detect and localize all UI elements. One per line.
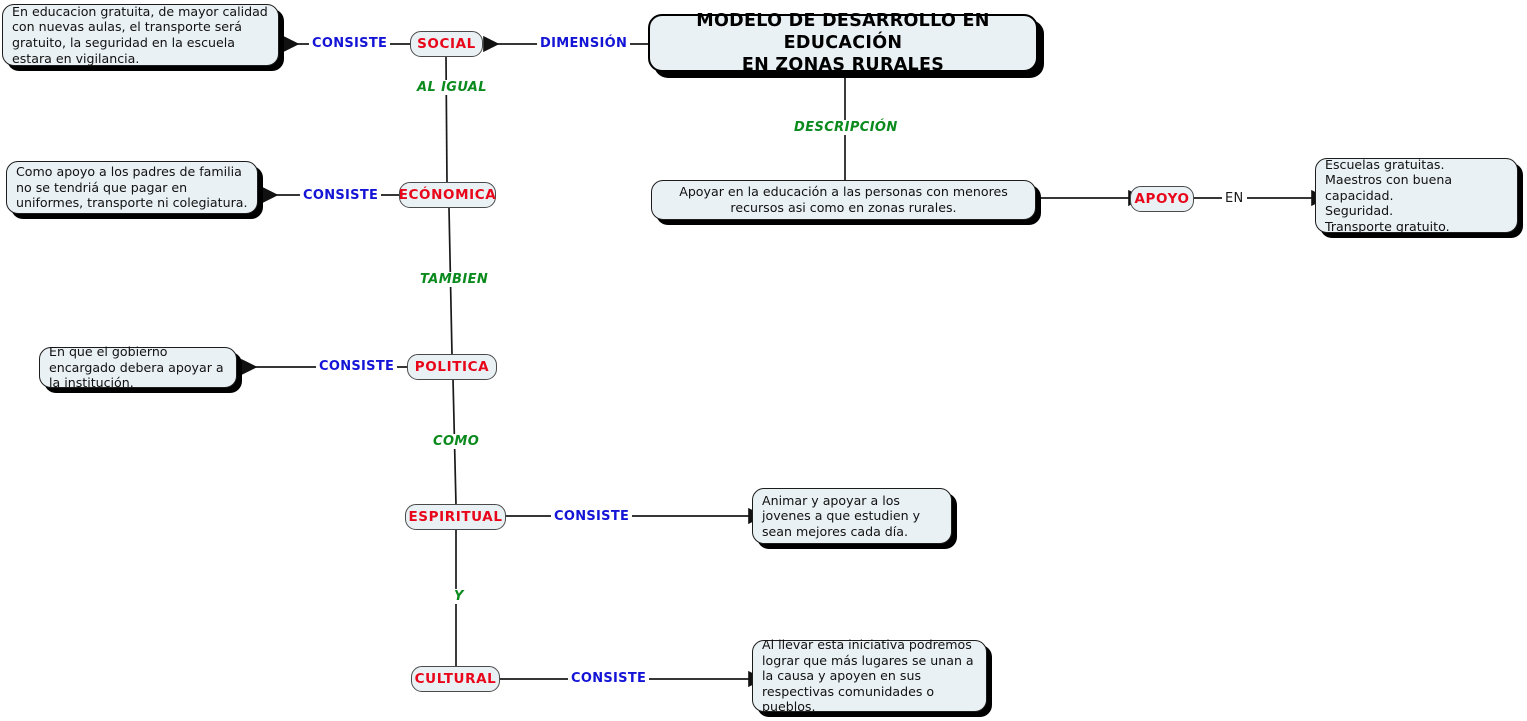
link-label-consiste-politica: CONSISTE [316, 359, 397, 374]
box-apoyo-detail-line-4: Transporte gratuito. [1325, 219, 1508, 235]
node-apoyo[interactable]: APOYO [1130, 186, 1194, 212]
node-espiritual[interactable]: ESPIRITUAL [405, 504, 506, 530]
box-apoyo-detail-line-1: Escuelas gratuitas. [1325, 157, 1508, 173]
link-label-descripcion: DESCRIPCIÓN [791, 120, 901, 135]
node-politica[interactable]: POLITICA [407, 354, 497, 380]
link-label-consiste-espiritual: CONSISTE [551, 509, 632, 524]
concept-map-canvas: MODELO DE DESARROLLO EN EDUCACIÓN EN ZON… [0, 0, 1527, 721]
page-title-line-1: MODELO DE DESARROLLO EN EDUCACIÓN [650, 10, 1036, 54]
box-descripcion-detail-text: Apoyar en la educación a las personas co… [661, 184, 1026, 215]
link-label-consiste-social: CONSISTE [309, 36, 390, 51]
box-apoyo-detail-line-2: Maestros con buena capacidad. [1325, 172, 1508, 203]
node-apoyo-label: APOYO [1134, 191, 1189, 207]
node-economica-label: ECÓNOMICA [399, 187, 497, 203]
page-title-line-2: EN ZONAS RURALES [650, 54, 1036, 76]
root-title-box: MODELO DE DESARROLLO EN EDUCACIÓN EN ZON… [648, 14, 1038, 72]
box-economica-detail-text: Como apoyo a los padres de familia no se… [16, 164, 248, 211]
box-cultural-detail-text: Al llevar esta iniciativa podremos logra… [762, 637, 977, 715]
node-economica[interactable]: ECÓNOMICA [399, 182, 496, 208]
box-social-detail-text: En educacion gratuita, de mayor calidad … [12, 4, 269, 66]
node-politica-label: POLITICA [415, 359, 489, 375]
node-cultural-label: CULTURAL [415, 671, 497, 687]
node-espiritual-label: ESPIRITUAL [408, 509, 502, 525]
box-descripcion-detail: Apoyar en la educación a las personas co… [651, 180, 1036, 220]
link-label-tambien: TAMBIEN [417, 272, 491, 287]
node-social-label: SOCIAL [417, 36, 476, 52]
link-label-al-igual: AL IGUAL [414, 80, 490, 95]
node-social[interactable]: SOCIAL [410, 31, 483, 57]
link-label-y: Y [451, 589, 467, 604]
page-title: MODELO DE DESARROLLO EN EDUCACIÓN EN ZON… [650, 10, 1036, 76]
link-label-consiste-economica: CONSISTE [300, 188, 381, 203]
link-label-consiste-cultural: CONSISTE [568, 671, 649, 686]
box-apoyo-detail-text: Escuelas gratuitas. Maestros con buena c… [1325, 157, 1508, 235]
node-cultural[interactable]: CULTURAL [411, 666, 500, 692]
link-label-como: COMO [430, 434, 482, 449]
box-cultural-detail: Al llevar esta iniciativa podremos logra… [752, 640, 987, 712]
box-espiritual-detail-text: Animar y apoyar a los jovenes a que estu… [762, 493, 942, 540]
box-apoyo-detail: Escuelas gratuitas. Maestros con buena c… [1315, 158, 1518, 233]
box-economica-detail: Como apoyo a los padres de familia no se… [6, 161, 258, 214]
box-social-detail: En educacion gratuita, de mayor calidad … [2, 4, 279, 66]
link-label-en: EN [1222, 191, 1247, 206]
box-politica-detail-text: En que el gobierno encargado debera apoy… [49, 344, 227, 391]
box-espiritual-detail: Animar y apoyar a los jovenes a que estu… [752, 488, 952, 544]
link-label-dimension: DIMENSIÓN [537, 36, 630, 51]
box-apoyo-detail-line-3: Seguridad. [1325, 203, 1508, 219]
box-politica-detail: En que el gobierno encargado debera apoy… [39, 347, 237, 388]
